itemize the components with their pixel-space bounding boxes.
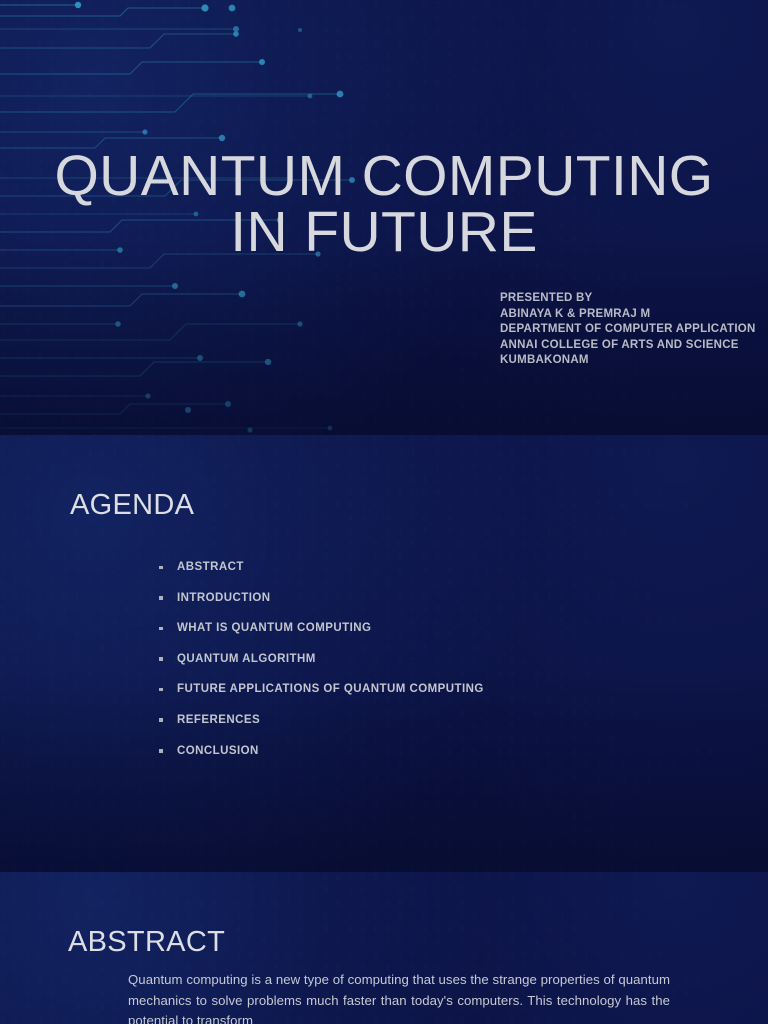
agenda-item: QUANTUM ALGORITHM: [155, 644, 484, 675]
abstract-body-text: Quantum computing is a new type of compu…: [128, 970, 670, 1024]
presented-by-label: PRESENTED BY: [500, 291, 768, 307]
abstract-heading: ABSTRACT: [68, 926, 225, 959]
abstract-slide: 764054621 67003700 80 510 665658 4 41179…: [0, 872, 768, 1024]
agenda-item: INTRODUCTION: [155, 583, 484, 614]
department-name: DEPARTMENT OF COMPUTER APPLICATION: [500, 322, 768, 338]
agenda-item: REFERENCES: [155, 705, 484, 736]
agenda-item: WHAT IS QUANTUM COMPUTING: [155, 613, 484, 644]
institution-name: ANNAI COLLEGE OF ARTS AND SCIENCE: [500, 338, 768, 354]
page-title: QUANTUM COMPUTING IN FUTURE: [0, 148, 768, 261]
presenter-info-block: PRESENTED BY ABINAYA K & PREMRAJ M DEPAR…: [500, 291, 768, 369]
agenda-item: ABSTRACT: [155, 552, 484, 583]
agenda-slide: 7 8233 0 4 102010261 3 917023 0 7566 74 …: [0, 435, 768, 872]
author-names: ABINAYA K & PREMRAJ M: [500, 307, 768, 323]
city-name: KUMBAKONAM: [500, 353, 768, 369]
agenda-item: CONCLUSION: [155, 736, 484, 767]
agenda-heading: AGENDA: [70, 489, 194, 522]
title-slide: 2959 2 0 97 4 01 787 3 35 5 6 5 2 5202 6…: [0, 0, 768, 435]
agenda-item: FUTURE APPLICATIONS OF QUANTUM COMPUTING: [155, 674, 484, 705]
slide-deck-scroll-view[interactable]: 2959 2 0 97 4 01 787 3 35 5 6 5 2 5202 6…: [0, 0, 768, 1024]
title-block: QUANTUM COMPUTING IN FUTURE: [0, 148, 768, 261]
agenda-list: ABSTRACTINTRODUCTIONWHAT IS QUANTUM COMP…: [155, 552, 484, 766]
